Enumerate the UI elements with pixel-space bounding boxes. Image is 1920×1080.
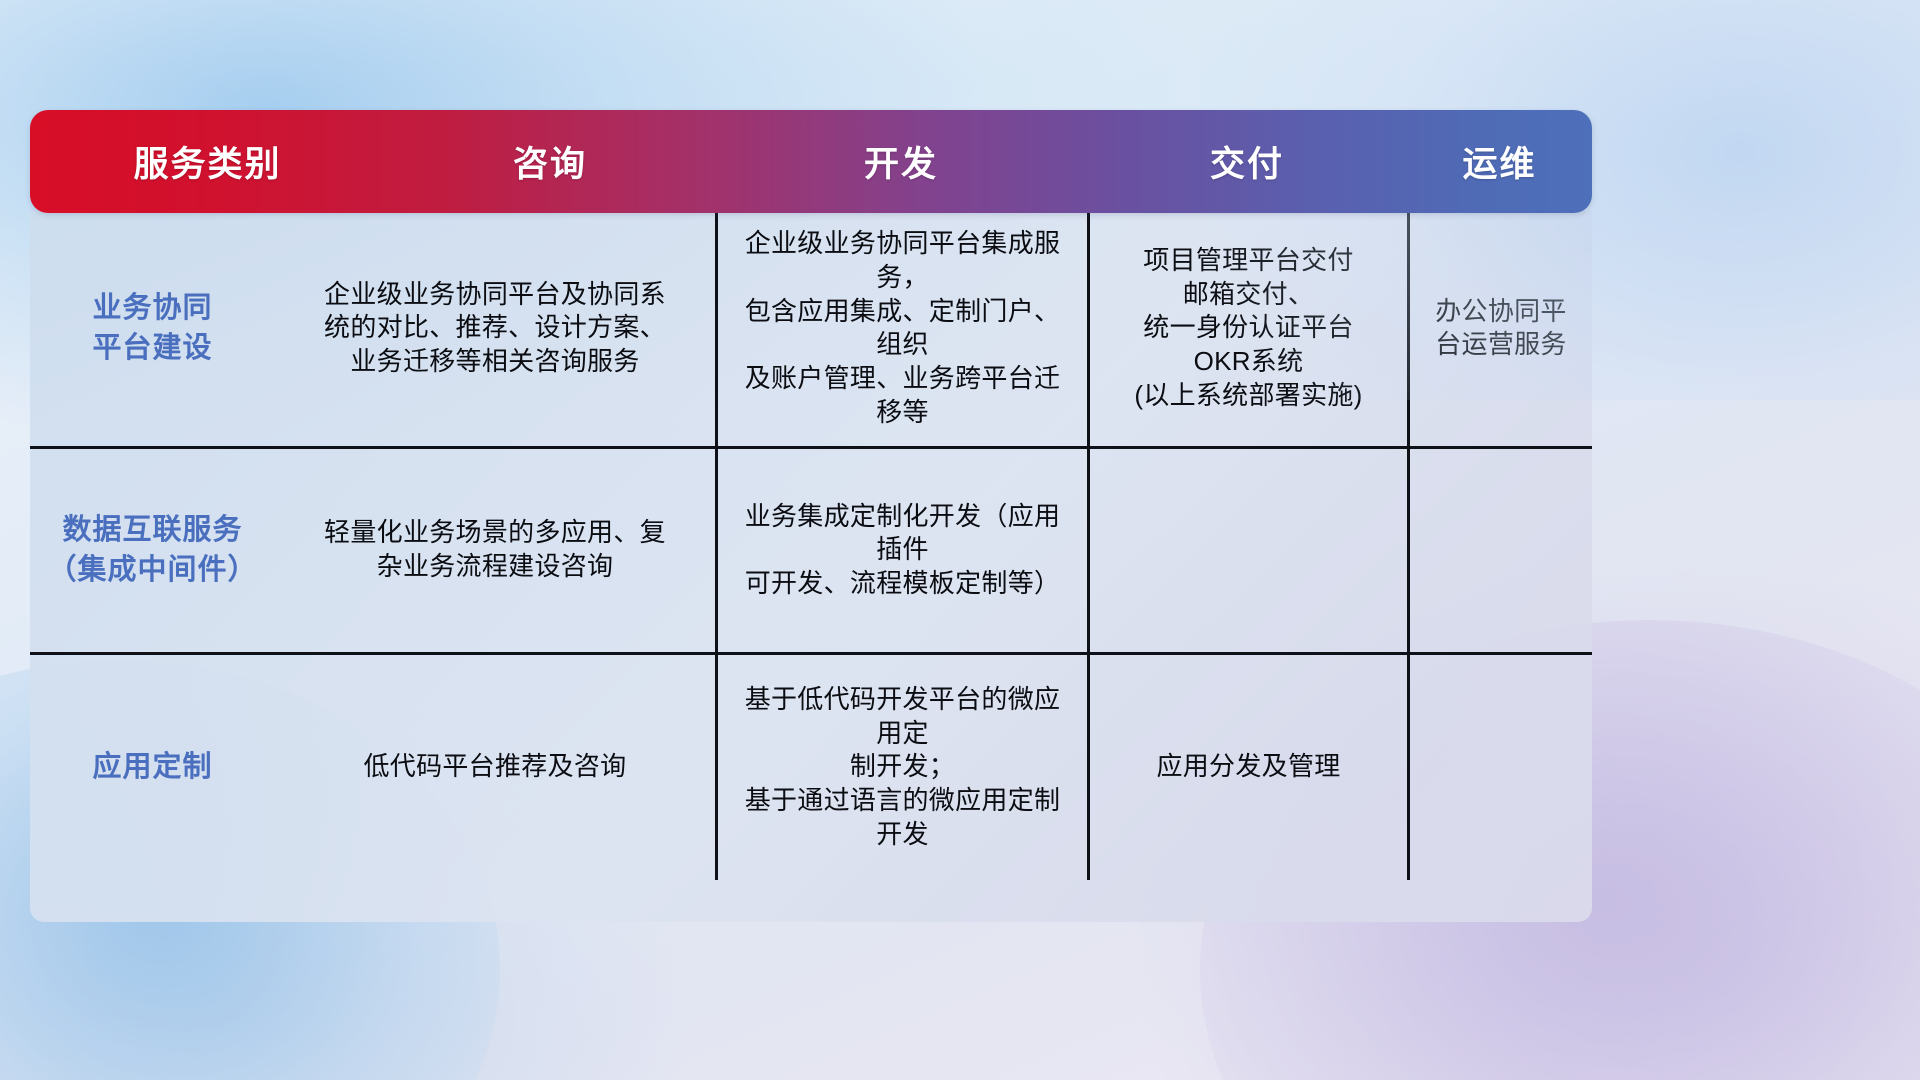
cell-consulting: 轻量化业务场景的多应用、复 杂业务流程建设咨询 — [275, 449, 715, 652]
cell-development: 业务集成定制化开发（应用插件 可开发、流程模板定制等） — [715, 449, 1087, 652]
header-delivery: 交付 — [1087, 110, 1407, 213]
cell-consulting: 低代码平台推荐及咨询 — [275, 655, 715, 880]
cell-category: 数据互联服务 （集成中间件） — [30, 449, 275, 652]
header-operations: 运维 — [1407, 110, 1592, 213]
cell-delivery — [1087, 449, 1407, 652]
service-category-table: 服务类别 咨询 开发 交付 运维 业务协同 平台建设 企业级业务协同平台及协同系… — [30, 110, 1592, 922]
cell-consulting: 企业级业务协同平台及协同系 统的对比、推荐、设计方案、 业务迁移等相关咨询服务 — [275, 211, 715, 446]
header-consulting: 咨询 — [385, 110, 715, 213]
table-row: 数据互联服务 （集成中间件） 轻量化业务场景的多应用、复 杂业务流程建设咨询 业… — [30, 446, 1592, 652]
table-header-row: 服务类别 咨询 开发 交付 运维 — [30, 110, 1592, 213]
cell-operations — [1407, 655, 1592, 880]
cell-development: 企业级业务协同平台集成服务， 包含应用集成、定制门户、组织 及账户管理、业务跨平… — [715, 211, 1087, 446]
header-development: 开发 — [715, 110, 1087, 213]
cell-operations: 办公协同平台运营服务 — [1407, 211, 1592, 446]
cell-delivery: 项目管理平台交付 邮箱交付、 统一身份认证平台 OKR系统 (以上系统部署实施) — [1087, 211, 1407, 446]
cell-category: 业务协同 平台建设 — [30, 211, 275, 446]
table-body: 业务协同 平台建设 企业级业务协同平台及协同系 统的对比、推荐、设计方案、 业务… — [30, 211, 1592, 922]
table-row: 业务协同 平台建设 企业级业务协同平台及协同系 统的对比、推荐、设计方案、 业务… — [30, 211, 1592, 446]
cell-category: 应用定制 — [30, 655, 275, 880]
header-service-category: 服务类别 — [30, 110, 385, 213]
slide-canvas: 服务类别 咨询 开发 交付 运维 业务协同 平台建设 企业级业务协同平台及协同系… — [0, 0, 1920, 1080]
table-row: 应用定制 低代码平台推荐及咨询 基于低代码开发平台的微应用定 制开发； 基于通过… — [30, 652, 1592, 922]
cell-operations — [1407, 449, 1592, 652]
cell-delivery: 应用分发及管理 — [1087, 655, 1407, 880]
cell-development: 基于低代码开发平台的微应用定 制开发； 基于通过语言的微应用定制开发 — [715, 655, 1087, 880]
